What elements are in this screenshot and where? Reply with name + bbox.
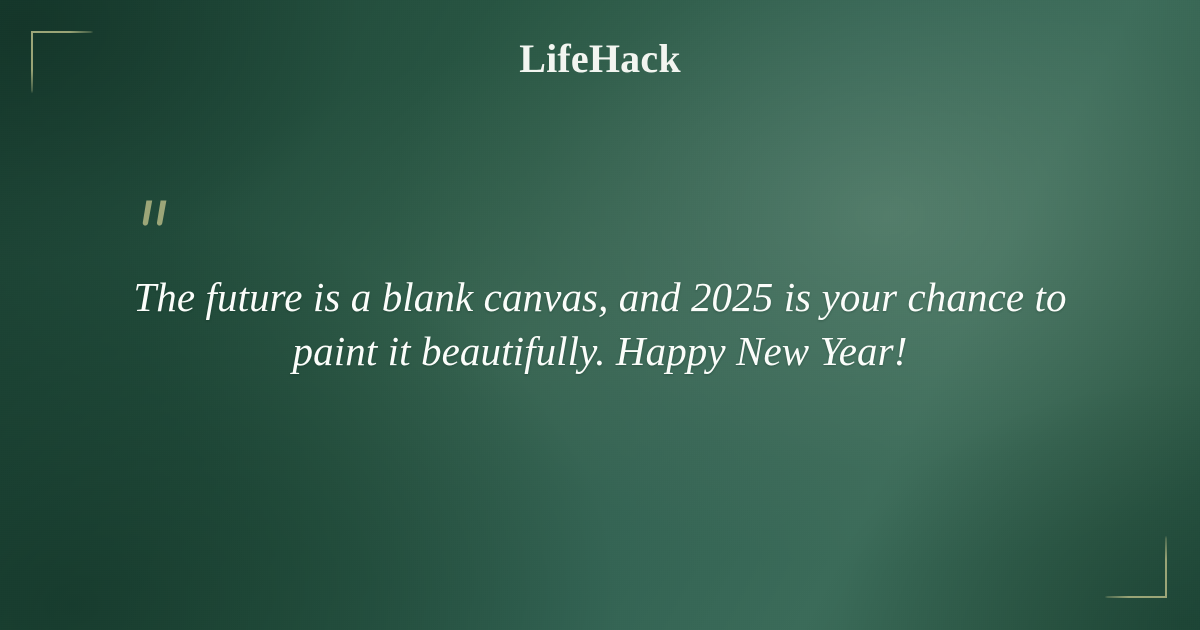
card-content: LifeHack The future is a blank canvas, a… bbox=[0, 0, 1200, 630]
quote-text: The future is a blank canvas, and 2025 i… bbox=[100, 270, 1100, 378]
quotation-mark-icon bbox=[133, 196, 179, 242]
quote-card: LifeHack The future is a blank canvas, a… bbox=[0, 0, 1200, 630]
bracket-arm-horizontal bbox=[1105, 596, 1167, 598]
brand-logo: LifeHack bbox=[0, 38, 1200, 80]
brand-name-text: LifeHack bbox=[519, 38, 681, 80]
corner-bracket-bottom-right-icon bbox=[1105, 536, 1167, 598]
bracket-arm-vertical bbox=[1165, 536, 1167, 598]
bracket-arm-horizontal bbox=[31, 31, 93, 33]
